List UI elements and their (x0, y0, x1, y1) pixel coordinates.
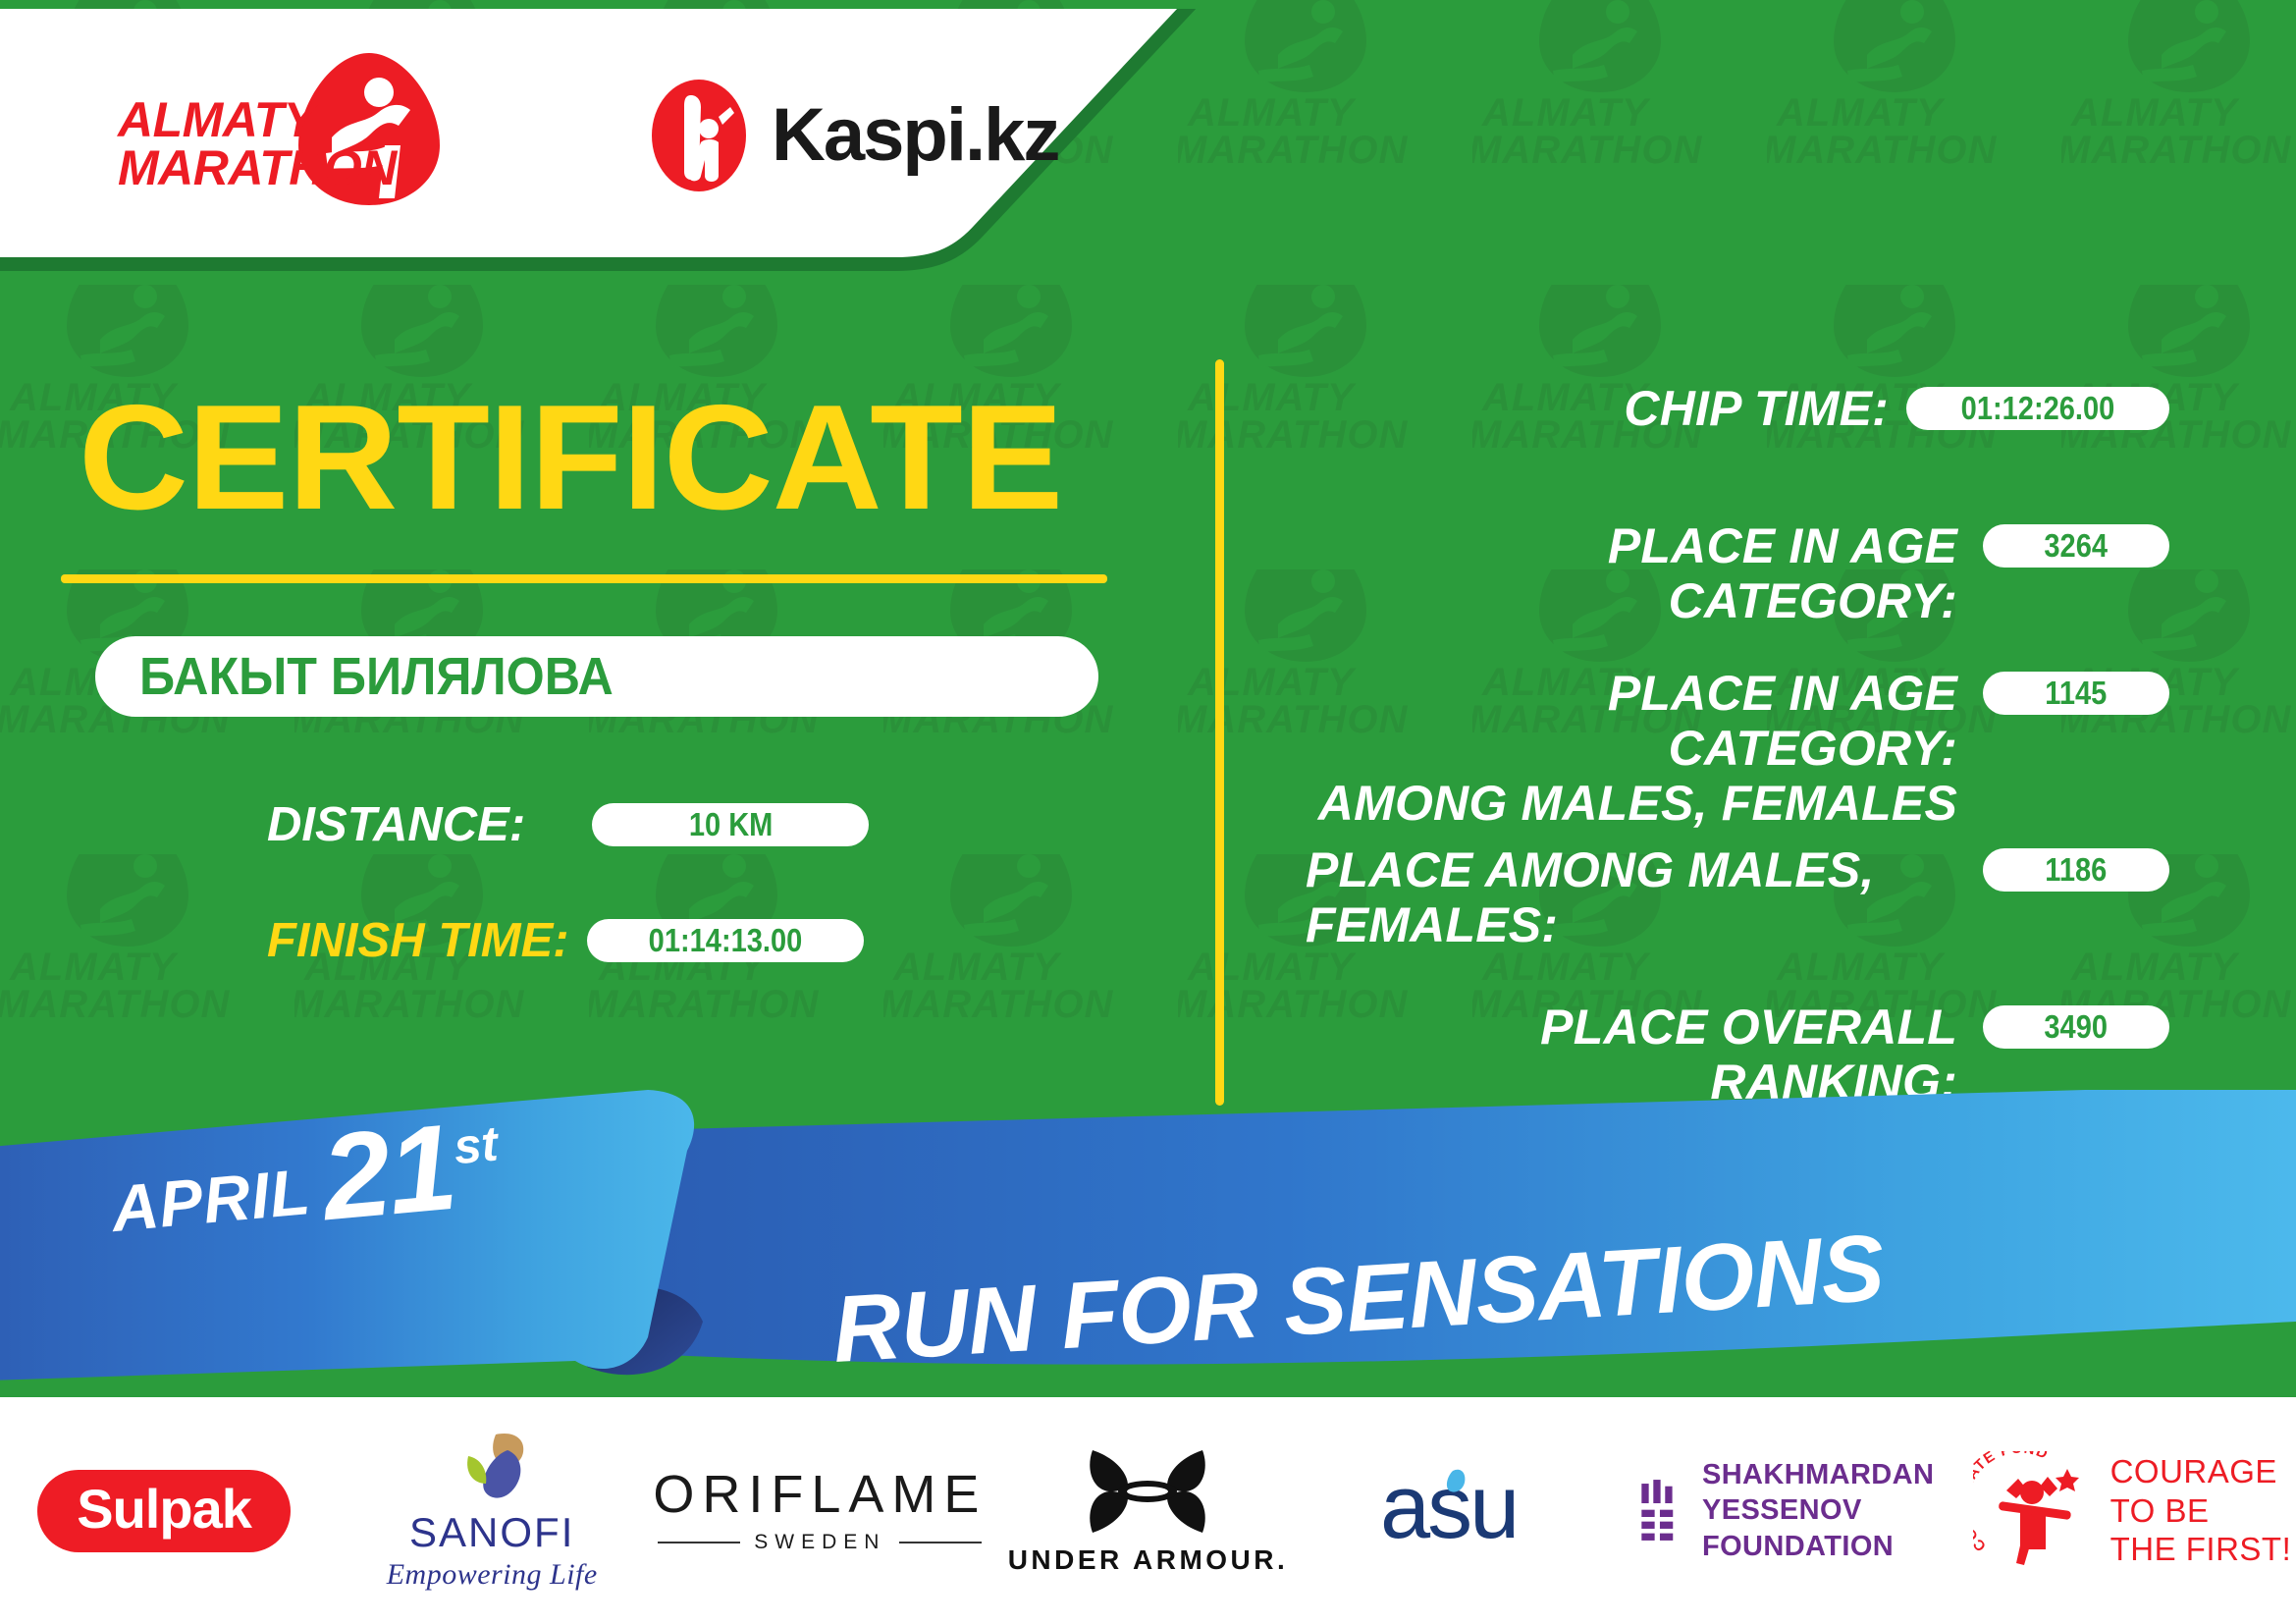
oriflame-wordmark: ORIFLAME (653, 1468, 987, 1521)
sponsor-sulpak: Sulpak (0, 1397, 328, 1624)
result-value-pill: 1145 (1983, 672, 2169, 715)
result-value: 01:12:26.00 (1961, 390, 2115, 427)
courage-fund-wordmark: COURAGE TO BE THE FIRST! (2110, 1452, 2292, 1569)
sponsor-under-armour: UNDER ARMOUR. (984, 1397, 1311, 1624)
oriflame-tagline: SWEDEN (754, 1531, 885, 1554)
sponsor-sanofi: SANOFI Empowering Life (328, 1397, 656, 1624)
kaspi-logo: Kaspi.kz (648, 78, 1058, 193)
sanofi-wordmark: SANOFI (409, 1509, 574, 1556)
result-row: PLACE IN AGE CATEGORY: 3264 (1306, 518, 2169, 628)
distance-label: DISTANCE: (267, 797, 525, 852)
result-row: PLACE AMONG MALES, FEMALES: 1186 (1306, 842, 2169, 952)
kaspi-figures-icon (648, 78, 750, 193)
asu-logo-icon: asu (1380, 1457, 1573, 1559)
under-armour-wordmark: UNDER ARMOUR. (1008, 1544, 1289, 1576)
result-label: PLACE IN AGE CATEGORY: AMONG MALES, FEMA… (1306, 666, 1957, 831)
result-value: 3490 (2045, 1008, 2109, 1046)
result-value-pill: 3264 (1983, 524, 2169, 568)
svg-text:asu: asu (1380, 1457, 1517, 1557)
title-divider-rule (61, 574, 1107, 583)
participant-name-field: БАКЫТ БИЛЯЛОВА (95, 636, 1098, 717)
under-armour-icon (1081, 1446, 1214, 1537)
courage-fund-icon: CORPORATE FUND (1973, 1451, 2097, 1571)
header-logos: ALMATY MARATHON Kaspi.kz (118, 59, 1058, 211)
page-title: CERTIFICATE (79, 383, 1062, 532)
distance-row: DISTANCE: 10 KM (267, 797, 869, 852)
yessenov-mark-icon (1640, 1464, 1681, 1558)
sponsor-yessenov-foundation: SHAKHMARDAN YESSENOV FOUNDATION (1640, 1397, 1968, 1624)
result-value: 3264 (2045, 527, 2109, 565)
event-day: 21 (318, 1113, 459, 1234)
sponsor-oriflame: ORIFLAME SWEDEN (656, 1397, 984, 1624)
sulpak-wordmark: Sulpak (37, 1470, 291, 1552)
result-value: 1186 (2045, 851, 2107, 889)
yessenov-wordmark: SHAKHMARDAN YESSENOV FOUNDATION (1702, 1457, 1968, 1564)
finish-time-row: FINISH TIME: 01:14:13.00 (267, 913, 864, 968)
participant-name-value: БАКЫТ БИЛЯЛОВА (139, 646, 614, 707)
distance-value: 10 KM (688, 806, 773, 843)
sanofi-mark-icon (445, 1431, 539, 1505)
distance-value-pill: 10 KM (592, 803, 869, 846)
result-label: CHIP TIME: (1306, 381, 1889, 436)
kaspi-wordmark: Kaspi.kz (772, 92, 1058, 178)
result-value-pill: 3490 (1983, 1005, 2169, 1049)
oriflame-rule-right (899, 1542, 982, 1543)
finish-time-label: FINISH TIME: (267, 913, 569, 968)
column-divider (1215, 359, 1224, 1106)
event-day-suffix: st (452, 1114, 501, 1175)
result-label: PLACE AMONG MALES, FEMALES: (1306, 842, 1957, 952)
result-row: CHIP TIME: 01:12:26.00 (1306, 381, 2169, 436)
sponsor-asu: asu (1312, 1397, 1640, 1624)
almaty-marathon-wordmark: ALMATY MARATHON (118, 96, 397, 191)
result-label: PLACE IN AGE CATEGORY: (1306, 518, 1957, 628)
sponsor-courage-fund: CORPORATE FUND COURAGE TO BE THE FIRST! (1968, 1397, 2296, 1624)
result-value-pill: 01:12:26.00 (1906, 387, 2169, 430)
almaty-marathon-logo: ALMATY MARATHON (118, 59, 442, 211)
result-value-pill: 1186 (1983, 848, 2169, 892)
result-value: 1145 (2045, 675, 2107, 712)
finish-time-value-pill: 01:14:13.00 (587, 919, 864, 962)
sponsor-bar: Sulpak SANOFI Empowering Life ORIFLAME S… (0, 1397, 2296, 1624)
finish-time-value: 01:14:13.00 (648, 922, 802, 959)
sanofi-tagline: Empowering Life (387, 1558, 598, 1592)
certificate-page: ALMATY MARATHON ALMATY MARATHON (0, 0, 2296, 1624)
result-row: PLACE IN AGE CATEGORY: AMONG MALES, FEMA… (1306, 666, 2169, 831)
oriflame-rule-left (658, 1542, 740, 1543)
